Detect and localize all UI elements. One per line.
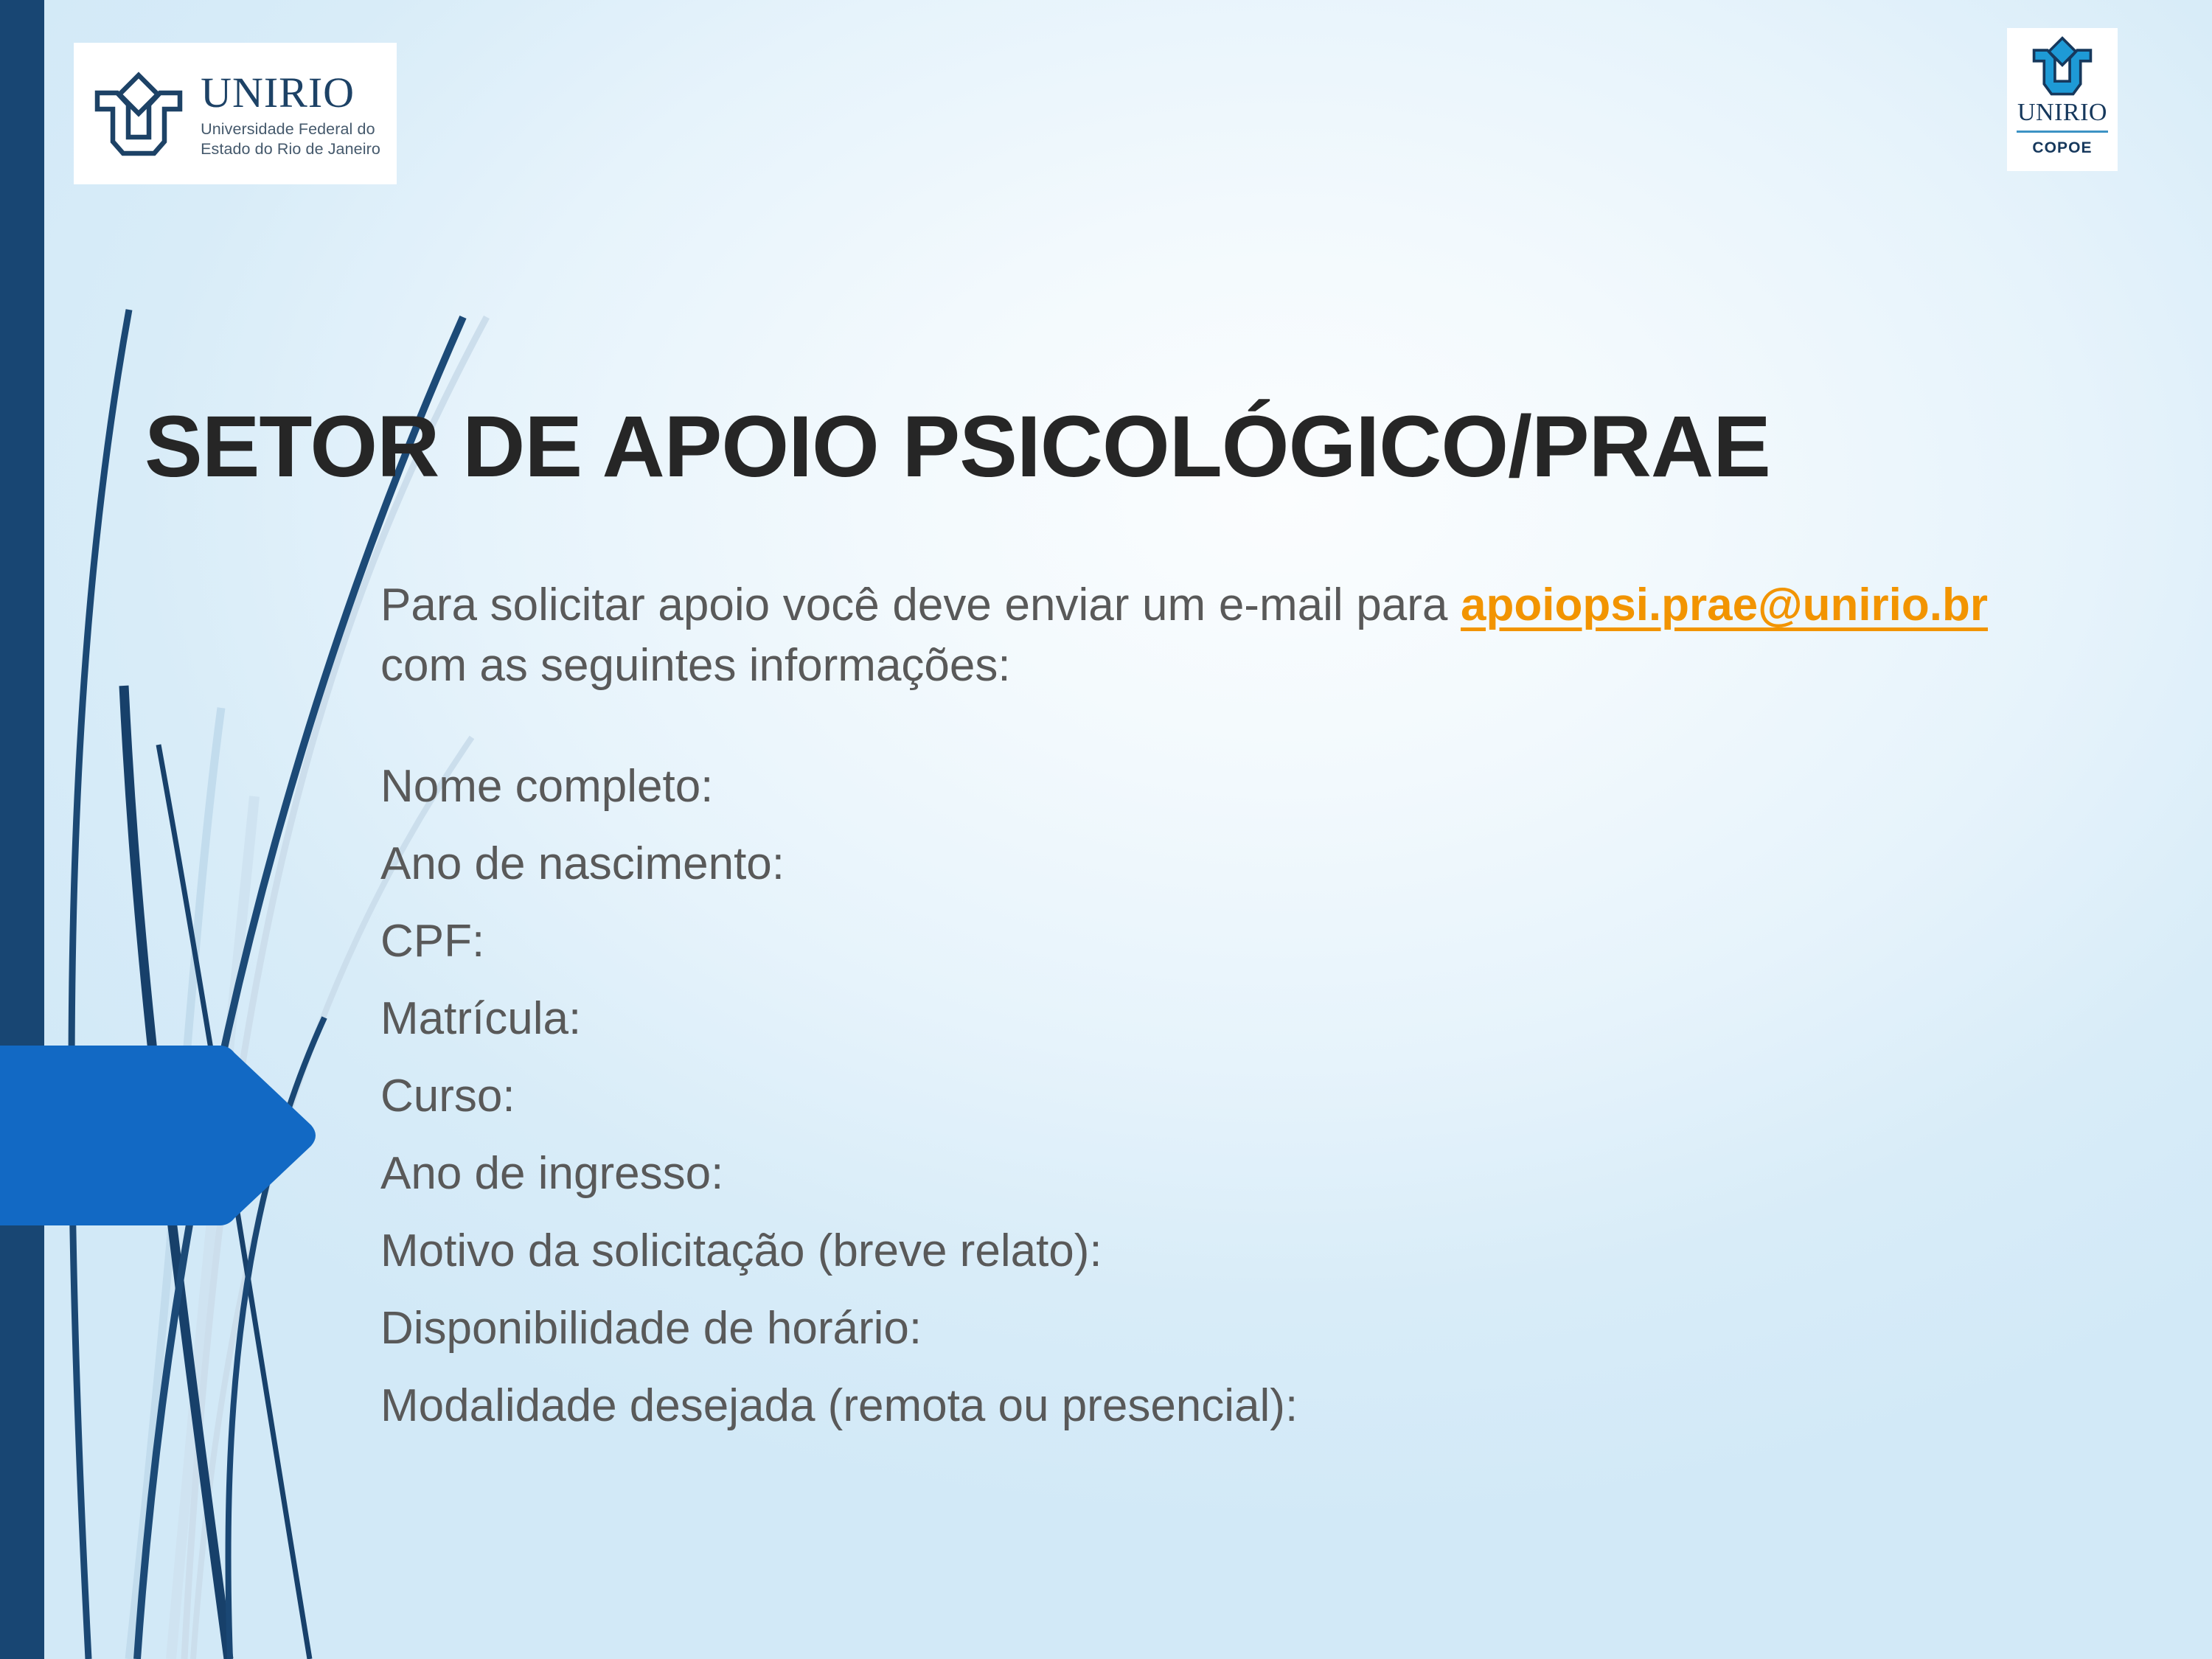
required-info-list: Nome completo: Ano de nascimento: CPF: M… bbox=[380, 764, 1988, 1429]
intro-paragraph: Para solicitar apoio você deve enviar um… bbox=[380, 575, 1988, 696]
list-item: Ano de nascimento: bbox=[380, 841, 1988, 887]
intro-text-before-link: Para solicitar apoio você deve enviar um… bbox=[380, 580, 1461, 630]
copoe-label: COPOE bbox=[2032, 139, 2092, 157]
list-item: Curso: bbox=[380, 1074, 1988, 1119]
list-item: Ano de ingresso: bbox=[380, 1151, 1988, 1197]
unirio-subtitle-line-2: Estado do Rio de Janeiro bbox=[201, 139, 380, 159]
left-accent-strip bbox=[0, 0, 44, 1659]
list-item: Motivo da solicitação (breve relato): bbox=[380, 1228, 1988, 1274]
copoe-wordmark: UNIRIO bbox=[2017, 100, 2107, 125]
unirio-logo: UNIRIO Universidade Federal do Estado do… bbox=[74, 43, 397, 184]
slide-body: Para solicitar apoio você deve enviar um… bbox=[380, 575, 1988, 1461]
presentation-slide: UNIRIO Universidade Federal do Estado do… bbox=[0, 0, 2212, 1659]
list-item: Modalidade desejada (remota ou presencia… bbox=[380, 1383, 1988, 1429]
intro-text-after-link: com as seguintes informações: bbox=[380, 640, 1011, 691]
unirio-copoe-emblem-icon bbox=[2028, 35, 2096, 99]
page-title: SETOR DE APOIO PSICOLÓGICO/PRAE bbox=[145, 402, 2135, 493]
copoe-divider bbox=[2017, 131, 2108, 133]
list-item: Matrícula: bbox=[380, 996, 1988, 1042]
list-item: CPF: bbox=[380, 919, 1988, 964]
list-item: Disponibilidade de horário: bbox=[380, 1306, 1988, 1352]
unirio-copoe-logo: UNIRIO COPOE bbox=[2007, 28, 2118, 171]
support-email-link[interactable]: apoiopsi.prae@unirio.br bbox=[1461, 580, 1988, 630]
chevron-banner bbox=[0, 1046, 332, 1225]
list-item: Nome completo: bbox=[380, 764, 1988, 810]
unirio-wordmark: UNIRIO bbox=[201, 72, 355, 114]
unirio-emblem-icon bbox=[90, 71, 187, 159]
unirio-subtitle-line-1: Universidade Federal do bbox=[201, 119, 380, 139]
